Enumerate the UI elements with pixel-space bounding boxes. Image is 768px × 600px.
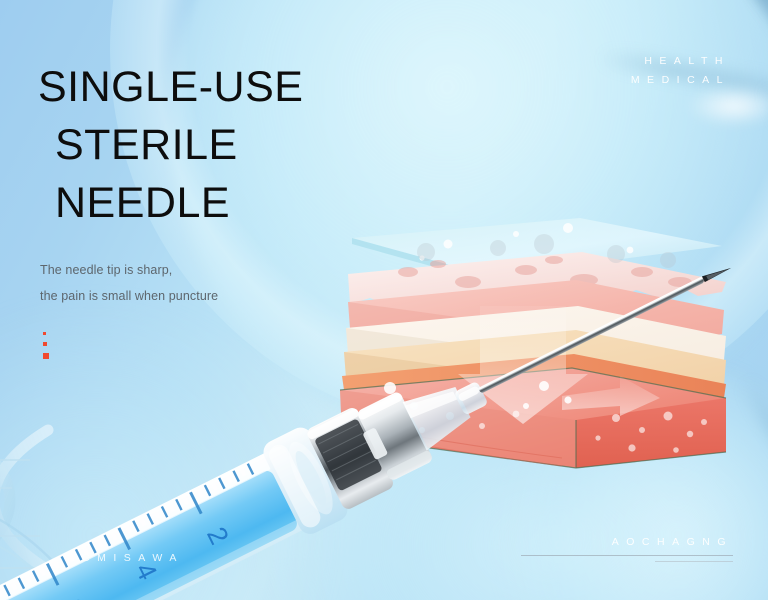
- brand-health-label: HEALTH: [623, 52, 730, 71]
- brand-bottom-right: AOCHAGNG: [521, 536, 733, 562]
- headline-line-2: STERILE: [38, 116, 368, 174]
- brand-rule-short: [655, 561, 733, 562]
- brand-rule-long: [521, 555, 733, 556]
- poster-canvas: SINGLE-USE STERILE NEEDLE The needle tip…: [0, 0, 768, 600]
- brand-top-right: HEALTH MEDICAL: [623, 52, 730, 90]
- headline-line-1: SINGLE-USE: [38, 58, 368, 116]
- brand-bottom-left: ACMISAWA: [60, 552, 184, 564]
- brand-aochagng-label: AOCHAGNG: [521, 536, 733, 548]
- blurred-instrument-highlight: [686, 86, 768, 126]
- subtitle-line-1: The needle tip is sharp,: [40, 257, 340, 283]
- brand-medical-label: MEDICAL: [623, 71, 730, 90]
- headline-block: SINGLE-USE STERILE NEEDLE: [38, 58, 368, 232]
- headline-line-3: NEEDLE: [38, 174, 368, 232]
